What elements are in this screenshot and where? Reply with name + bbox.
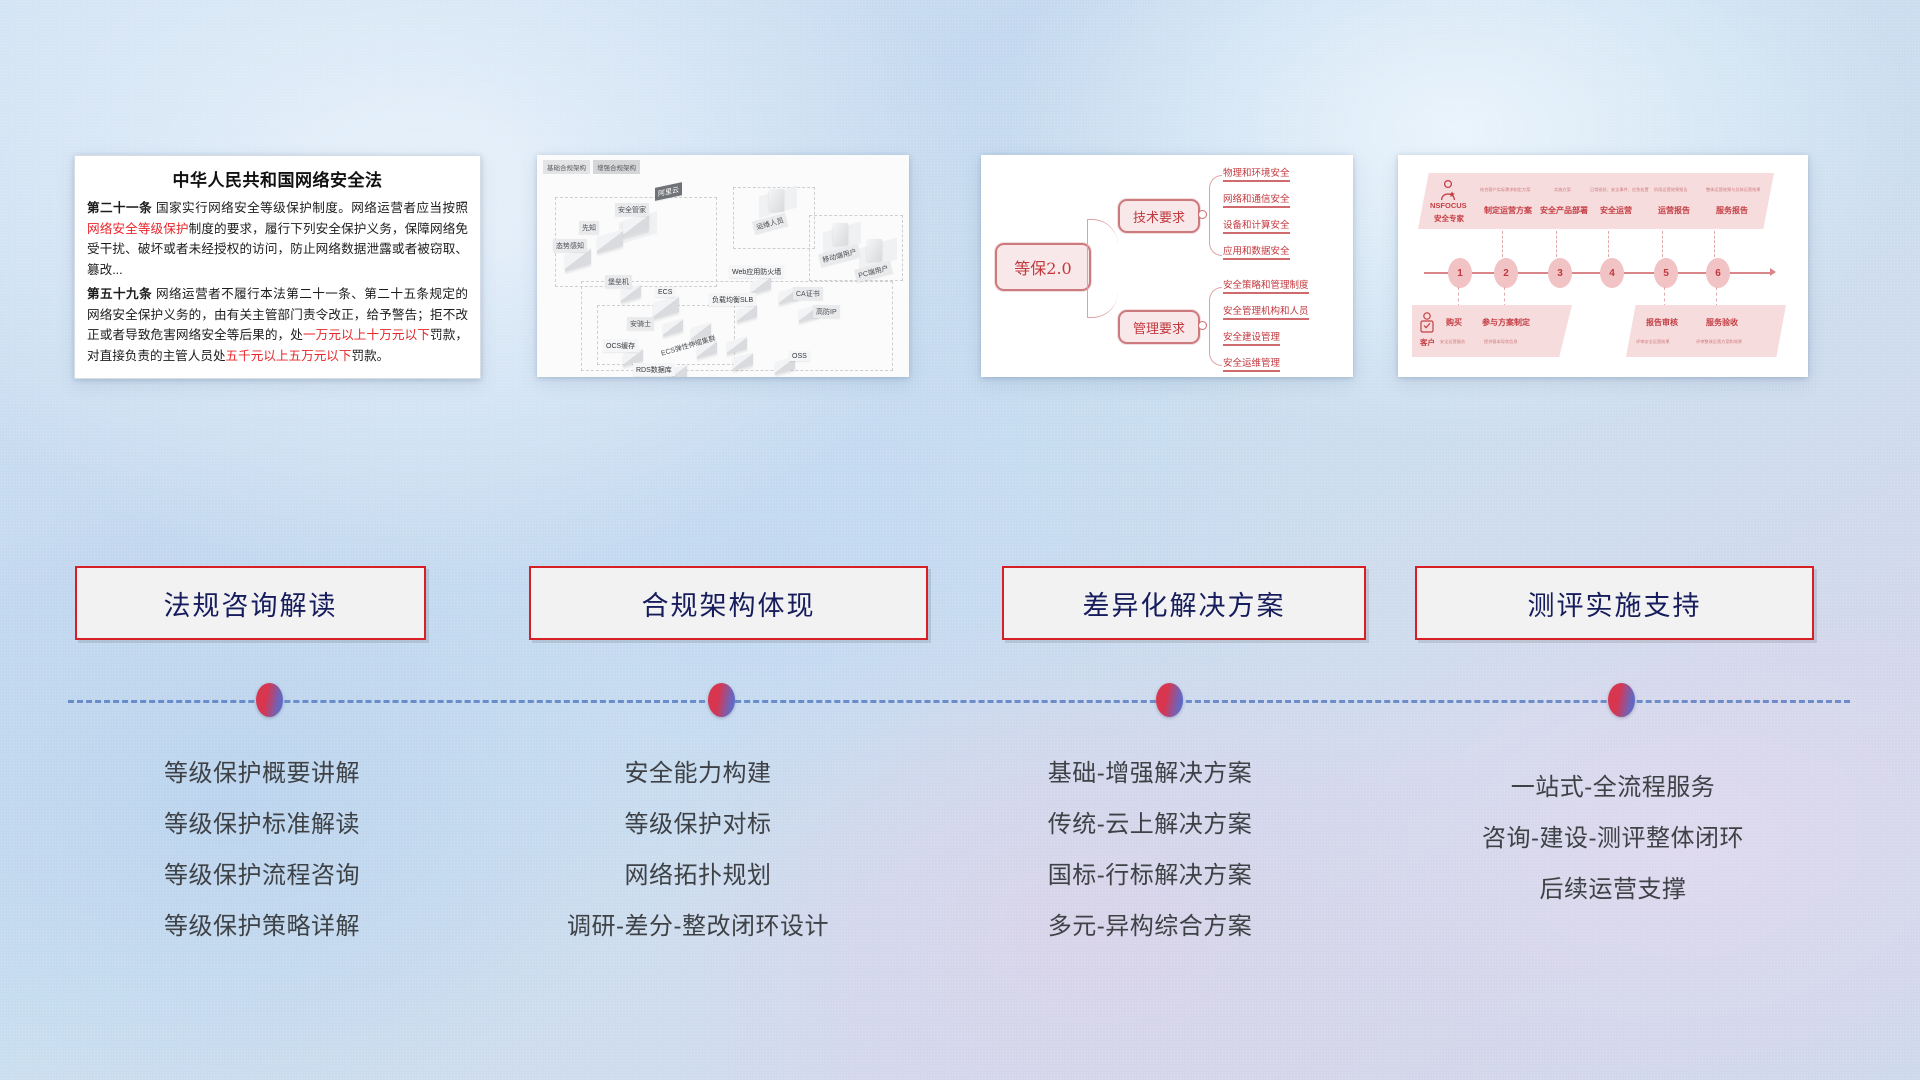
lead-line-step5-top — [1662, 231, 1664, 257]
node-anqishi: 安骑士 — [627, 317, 654, 330]
column-assessment-support: 一站式-全流程服务 咨询-建设-测评整体闭环 后续运营支撑 — [1408, 762, 1818, 915]
timeline-marker-1[interactable] — [256, 683, 283, 717]
mindmap-branch-management: 管理要求 — [1118, 310, 1200, 344]
customer-person-icon — [1418, 311, 1436, 340]
article-59-end: 罚款。 — [351, 349, 389, 363]
top-step-3-sub: 日常巡检、安全事件、应急处置 — [1590, 187, 1649, 193]
article-59-highlight-1: 一万元以上十万元以下 — [303, 328, 430, 342]
lead-line-step1-bottom — [1458, 287, 1460, 307]
top-step-5-sub: 整体运营效果与总体运营效果 — [1706, 187, 1760, 193]
list-item: 等级保护对标 — [498, 799, 898, 850]
bottom-step-4-title: 服务验收 — [1706, 317, 1738, 328]
headline-box-regulation-consulting[interactable]: 法规咨询解读 — [75, 566, 426, 640]
law-article-21: 第二十一条 国家实行网络安全等级保护制度。网络运营者应当按照网络安全等级保护制度… — [87, 198, 468, 280]
mindmap-leaf-construction-mgmt: 安全建设管理 — [1223, 329, 1280, 346]
article-59-label: 第五十九条 — [87, 287, 152, 301]
article-21-label: 第二十一条 — [87, 201, 152, 215]
headline-box-differentiated-solution[interactable]: 差异化解决方案 — [1002, 566, 1366, 640]
bottom-step-1-sub: 安全运营服务 — [1440, 339, 1465, 345]
law-text-body: 中华人民共和国网络安全法 第二十一条 国家实行网络安全等级保护制度。网络运营者应… — [75, 156, 480, 378]
timeline-step-4: 4 — [1600, 258, 1624, 288]
list-item: 一站式-全流程服务 — [1408, 762, 1818, 813]
list-item: 安全能力构建 — [498, 748, 898, 799]
headline-label-3: 差异化解决方案 — [1083, 584, 1286, 623]
node-rds-database: RDS数据库 — [633, 363, 675, 376]
list-item: 国标-行标解决方案 — [950, 850, 1350, 901]
top-step-3-title: 安全运营 — [1600, 205, 1632, 216]
icon-pc-client — [867, 239, 882, 261]
customer-role-label: 客户 — [1420, 337, 1435, 348]
node-security-butler: 安全管家 — [615, 203, 649, 216]
list-item: 传统-云上解决方案 — [950, 799, 1350, 850]
mindmap-leaf-physical-env: 物理和环境安全 — [1223, 165, 1290, 182]
expert-role-line1: NSFOCUS — [1430, 201, 1467, 210]
top-step-1-title: 制定运营方案 — [1484, 205, 1532, 216]
bottom-step-1-title: 购买 — [1446, 317, 1462, 328]
law-article-59: 第五十九条 网络运营者不履行本法第二十一条、第二十五条规定的网络安全保护义务的，… — [87, 284, 468, 366]
list-item: 网络拓扑规划 — [498, 850, 898, 901]
list-item: 等级保护标准解读 — [72, 799, 452, 850]
lead-line-step5-bottom — [1664, 287, 1666, 307]
list-item: 后续运营支撑 — [1408, 864, 1818, 915]
service-timeline-infographic: NSFOCUS 安全专家 结合客户实际需求制定方案 制定运营方案 实施方案 安全… — [1398, 155, 1808, 377]
headline-box-compliance-architecture[interactable]: 合规架构体现 — [529, 566, 928, 640]
card-service-timeline: NSFOCUS 安全专家 结合客户实际需求制定方案 制定运营方案 实施方案 安全… — [1398, 155, 1808, 377]
node-ecs: ECS — [655, 287, 675, 297]
headline-label-4: 测评实施支持 — [1528, 584, 1702, 623]
list-item: 等级保护概要讲解 — [72, 748, 452, 799]
lead-line-step2-top — [1502, 231, 1504, 257]
band-customer-track-right — [1626, 305, 1786, 357]
timeline-step-1: 1 — [1448, 258, 1472, 288]
expert-role-line2: 安全专家 — [1434, 213, 1464, 224]
list-item: 咨询-建设-测评整体闭环 — [1408, 813, 1818, 864]
node-waf: Web应用防火墙 — [729, 265, 784, 278]
timeline-step-6: 6 — [1706, 258, 1730, 288]
mindmap-root-node: 等保2.0 — [995, 243, 1091, 291]
node-anti-ddos-ip: 高防IP — [813, 305, 840, 318]
tab-basic-architecture: 基础合规架构 — [543, 160, 590, 174]
timeline-marker-3[interactable] — [1156, 683, 1183, 717]
timeline-marker-2[interactable] — [708, 683, 735, 717]
column-compliance-architecture: 安全能力构建 等级保护对标 网络拓扑规划 调研-差分-整改闭环设计 — [498, 748, 898, 952]
tab-enhanced-architecture: 增强合规架构 — [593, 160, 640, 174]
bottom-step-2-title: 参与方案制定 — [1482, 317, 1530, 328]
band-expert-track — [1418, 173, 1774, 229]
bottom-step-4-sub: 评审整改运营方案和效果 — [1696, 339, 1742, 345]
node-situation-awareness: 态势感知 — [553, 239, 587, 252]
architecture-tabs: 基础合规架构 增强合规架构 — [543, 160, 640, 174]
bottom-step-2-sub: 提供基本现状信息 — [1484, 339, 1518, 345]
list-item: 调研-差分-整改闭环设计 — [498, 901, 898, 952]
bottom-step-3-title: 报告审核 — [1646, 317, 1678, 328]
lead-line-step2-bottom — [1504, 287, 1506, 307]
headline-box-assessment-support[interactable]: 测评实施支持 — [1415, 566, 1814, 640]
card-dengbao-mindmap: 等保2.0 技术要求 物理和环境安全 网络和通信安全 设备和计算安全 应用和数据… — [981, 155, 1353, 377]
mindmap: 等保2.0 技术要求 物理和环境安全 网络和通信安全 设备和计算安全 应用和数据… — [981, 155, 1353, 377]
icon-ops-staff — [769, 189, 784, 211]
timeline-step-3: 3 — [1548, 258, 1572, 288]
timeline-marker-4[interactable] — [1608, 683, 1635, 717]
mindmap-collapse-dot-management[interactable] — [1198, 321, 1207, 330]
lead-line-step6-top — [1714, 231, 1716, 257]
band-customer-track-left — [1412, 305, 1572, 357]
card-compliance-architecture: 基础合规架构 增强合规架构 阿里云 安全管家 先知 态势感知 堡垒机 运维人员 — [537, 155, 909, 377]
headline-label-2: 合规架构体现 — [642, 584, 816, 623]
lead-line-step6-bottom — [1716, 287, 1718, 307]
icon-mobile-client — [833, 223, 848, 245]
mindmap-leaf-ops-mgmt: 安全运维管理 — [1223, 355, 1280, 372]
node-slb: 负载均衡SLB — [709, 293, 756, 306]
top-step-2-title: 安全产品部署 — [1540, 205, 1588, 216]
timeline-arrow-icon — [1770, 268, 1776, 276]
mindmap-branch-technical: 技术要求 — [1118, 199, 1200, 233]
lead-line-step3-top — [1556, 231, 1558, 257]
article-21-highlight: 网络安全等级保护 — [87, 222, 189, 236]
timeline-step-5: 5 — [1654, 258, 1678, 288]
article-21-pre: 国家实行网络安全等级保护制度。网络运营者应当按照 — [152, 201, 468, 215]
mindmap-leaf-policy-system: 安全策略和管理制度 — [1223, 277, 1309, 294]
node-bastion-host: 堡垒机 — [605, 275, 632, 288]
list-item: 基础-增强解决方案 — [950, 748, 1350, 799]
list-item: 等级保护流程咨询 — [72, 850, 452, 901]
lead-line-step4-top — [1608, 231, 1610, 257]
timeline-step-2: 2 — [1494, 258, 1518, 288]
top-step-4-title: 运营报告 — [1658, 205, 1690, 216]
node-ocs-cache: OCS缓存 — [603, 339, 638, 352]
dashed-timeline — [68, 700, 1850, 703]
mindmap-leaf-app-data: 应用和数据安全 — [1223, 243, 1290, 260]
top-step-5-title: 服务报告 — [1716, 205, 1748, 216]
top-step-2-sub: 实施方案 — [1554, 187, 1571, 193]
architecture-diagram: 基础合规架构 增强合规架构 阿里云 安全管家 先知 态势感知 堡垒机 运维人员 — [537, 155, 909, 377]
headline-label-1: 法规咨询解读 — [164, 584, 338, 623]
list-item: 多元-异构综合方案 — [950, 901, 1350, 952]
mindmap-collapse-dot-technical[interactable] — [1198, 210, 1207, 219]
slide-stage: 中华人民共和国网络安全法 第二十一条 国家实行网络安全等级保护制度。网络运营者应… — [0, 0, 1920, 1080]
node-oss: OSS — [789, 351, 810, 361]
column-regulation-consulting: 等级保护概要讲解 等级保护标准解读 等级保护流程咨询 等级保护策略详解 — [72, 748, 452, 952]
law-title: 中华人民共和国网络安全法 — [87, 166, 468, 191]
bottom-step-3-sub: 评审安全运营效果 — [1636, 339, 1670, 345]
list-item: 等级保护策略详解 — [72, 901, 452, 952]
node-ca-cert: CA证书 — [793, 287, 823, 300]
mindmap-leaf-org-personnel: 安全管理机构和人员 — [1223, 303, 1309, 320]
node-xianzhi: 先知 — [579, 221, 599, 234]
top-step-1-sub: 结合客户实际需求制定方案 — [1480, 187, 1530, 193]
top-step-4-sub: 阶段运营效果报告 — [1654, 187, 1688, 193]
card-cybersecurity-law: 中华人民共和国网络安全法 第二十一条 国家实行网络安全等级保护制度。网络运营者应… — [74, 155, 481, 379]
mindmap-leaf-network-comm: 网络和通信安全 — [1223, 191, 1290, 208]
mindmap-leaf-device-compute: 设备和计算安全 — [1223, 217, 1290, 234]
article-59-highlight-2: 五千元以上五万元以下 — [226, 349, 352, 363]
column-differentiated-solution: 基础-增强解决方案 传统-云上解决方案 国标-行标解决方案 多元-异构综合方案 — [950, 748, 1350, 952]
